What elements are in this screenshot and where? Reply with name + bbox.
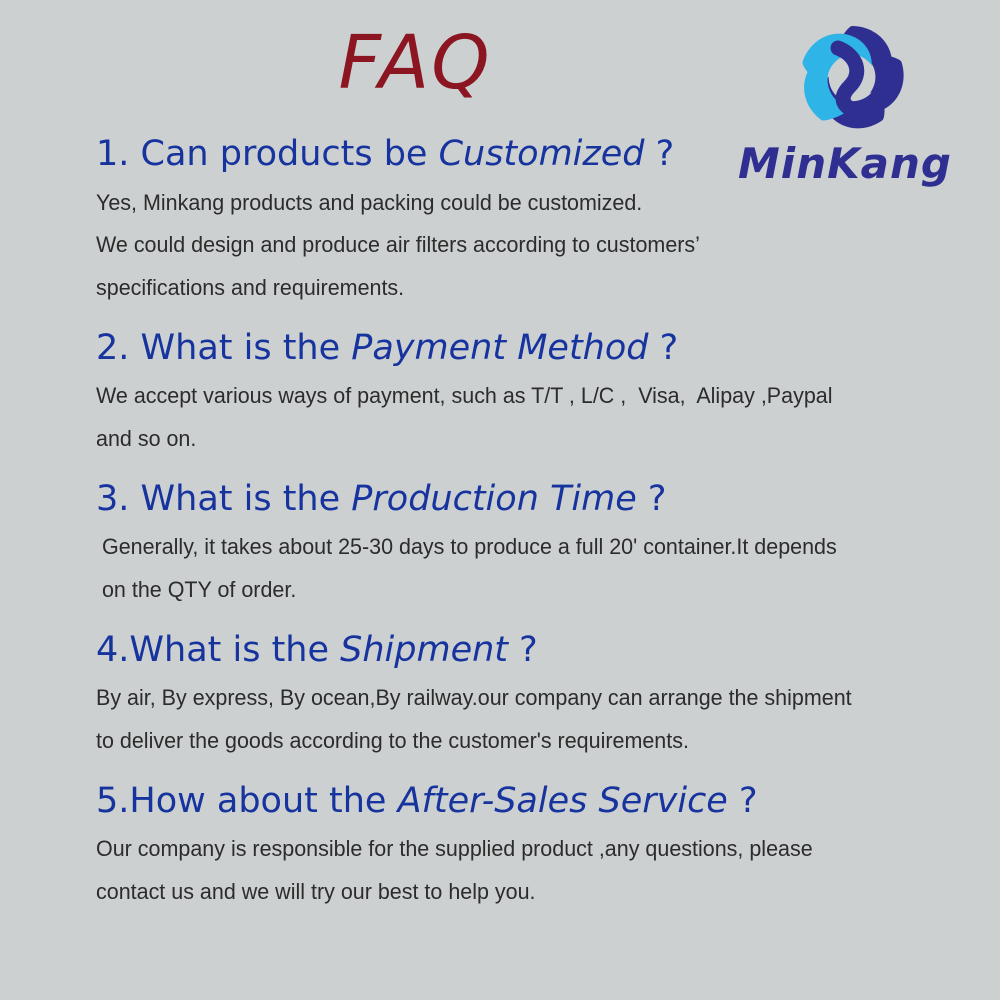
faq-answer: Our company is responsible for the suppl… xyxy=(96,828,936,914)
faq-answer: Generally, it takes about 25-30 days to … xyxy=(96,526,936,612)
faq-item: 2. What is the Payment Method ? We accep… xyxy=(96,326,976,461)
faq-question-lead: What is the xyxy=(141,479,352,519)
faq-question-lead: How about the xyxy=(129,781,397,821)
faq-item: 3. What is the Production Time ? General… xyxy=(96,477,976,612)
faq-item: 1. Can products be Customized ? Yes, Min… xyxy=(96,132,976,310)
faq-question: 3. What is the Production Time ? xyxy=(96,477,976,523)
faq-answer: Yes, Minkang products and packing could … xyxy=(96,182,936,310)
minkang-pinwheel-logo-icon xyxy=(788,14,916,142)
faq-question-number: 1. xyxy=(96,134,141,174)
faq-answer-line: specifications and requirements. xyxy=(96,275,404,300)
faq-answer: We accept various ways of payment, such … xyxy=(96,375,936,461)
faq-question-emphasis: Production Time xyxy=(351,479,636,519)
faq-question-number: 4. xyxy=(96,630,129,670)
faq-question-lead: What is the xyxy=(129,630,340,670)
faq-question-tail: ? xyxy=(637,479,667,519)
faq-question: 4.What is the Shipment ? xyxy=(96,628,976,674)
faq-answer-line: on the QTY of order. xyxy=(96,577,296,602)
faq-question-emphasis: After-Sales Service xyxy=(398,781,728,821)
faq-question-emphasis: Shipment xyxy=(340,630,508,670)
faq-answer: By air, By express, By ocean,By railway.… xyxy=(96,677,936,763)
faq-list: 1. Can products be Customized ? Yes, Min… xyxy=(96,132,976,920)
faq-question-number: 3. xyxy=(96,479,141,519)
faq-item: 5.How about the After-Sales Service ? Ou… xyxy=(96,779,976,914)
faq-question-tail: ? xyxy=(648,328,678,368)
faq-answer-line: to deliver the goods according to the cu… xyxy=(96,728,689,753)
faq-question-number: 2. xyxy=(96,328,141,368)
faq-answer-line: and so on. xyxy=(96,426,196,451)
faq-item: 4.What is the Shipment ? By air, By expr… xyxy=(96,628,976,763)
faq-answer-line: We could design and produce air filters … xyxy=(96,232,700,257)
faq-page: FAQ xyxy=(0,0,1000,1000)
faq-question-lead: What is the xyxy=(141,328,352,368)
faq-answer-line: Yes, Minkang products and packing could … xyxy=(96,190,642,215)
faq-answer-line: By air, By express, By ocean,By railway.… xyxy=(96,685,852,710)
faq-question-lead: Can products be xyxy=(141,134,439,174)
faq-question-emphasis: Payment Method xyxy=(351,328,648,368)
faq-question-tail: ? xyxy=(728,781,758,821)
faq-question-emphasis: Customized xyxy=(439,134,645,174)
faq-question-tail: ? xyxy=(645,134,675,174)
faq-question: 2. What is the Payment Method ? xyxy=(96,326,976,372)
faq-question-tail: ? xyxy=(508,630,538,670)
faq-question-number: 5. xyxy=(96,781,129,821)
faq-question: 1. Can products be Customized ? xyxy=(96,132,976,178)
faq-answer-line: Our company is responsible for the suppl… xyxy=(96,836,813,861)
faq-answer-line: contact us and we will try our best to h… xyxy=(96,879,536,904)
faq-question: 5.How about the After-Sales Service ? xyxy=(96,779,976,825)
faq-answer-line: We accept various ways of payment, such … xyxy=(96,383,832,408)
faq-answer-line: Generally, it takes about 25-30 days to … xyxy=(96,534,837,559)
